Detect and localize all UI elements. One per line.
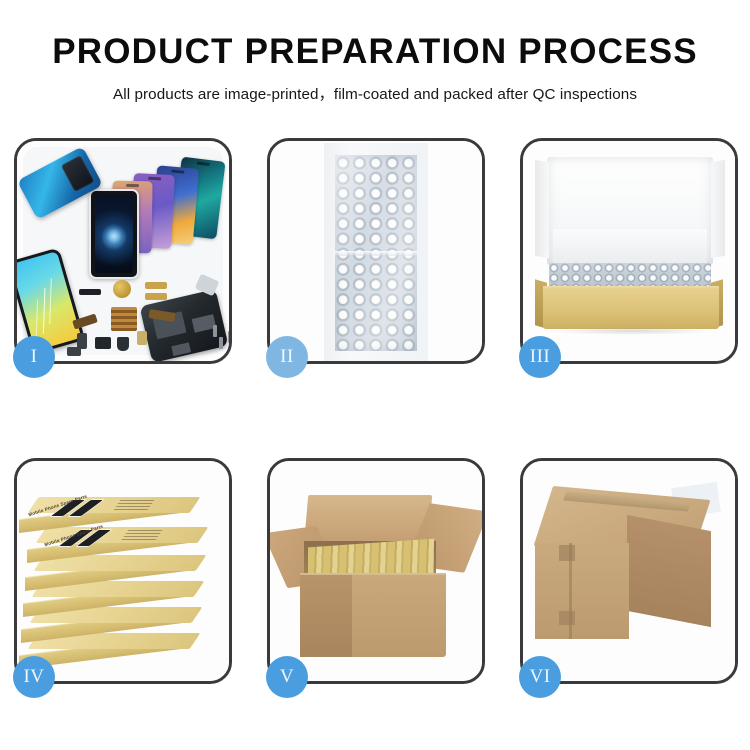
process-step-panel-4: Mobile Phone Spare Parts Mobile Phon (14, 458, 232, 684)
step-5-illustration (270, 461, 482, 681)
carton-flap-tab (559, 545, 575, 561)
step-badge-1: I (13, 336, 55, 378)
process-step-panel-2: II (267, 138, 485, 364)
spare-part-icon (137, 331, 147, 345)
retail-box-labelled: Mobile Phone Spare Parts (19, 497, 195, 523)
step-badge-2: II (266, 336, 308, 378)
step-6-illustration (523, 461, 735, 681)
header: PRODUCT PREPARATION PROCESS All products… (0, 0, 750, 104)
kraft-box-front (543, 289, 719, 329)
step-badge-5: V (266, 656, 308, 698)
spare-part-icon (117, 337, 129, 351)
step-3-illustration (523, 141, 735, 361)
page-title: PRODUCT PREPARATION PROCESS (0, 34, 750, 69)
step-1-illustration (17, 141, 229, 361)
spare-part-icon (67, 347, 81, 356)
step-badge-3: III (519, 336, 561, 378)
carton-flap-tab (559, 611, 575, 625)
spare-part-icon (145, 282, 167, 289)
step-4-illustration: Mobile Phone Spare Parts Mobile Phon (17, 461, 229, 681)
step-badge-6: VI (519, 656, 561, 698)
bubble-wrap-pouch-icon (324, 143, 428, 361)
page-subtitle: All products are image-printed，film-coat… (0, 82, 750, 104)
retail-box-labelled: Mobile Phone Spare Parts (27, 527, 203, 553)
process-step-panel-6: VI (520, 458, 738, 684)
screw-icon (219, 337, 223, 349)
screen-glass-icon (89, 189, 139, 279)
carton-side-face (627, 515, 711, 627)
process-step-panel-3: III (520, 138, 738, 364)
retail-box-stack-icon: Mobile Phone Spare Parts Mobile Phon (19, 483, 227, 679)
process-step-grid: I II (14, 138, 736, 684)
carton-front-face (300, 575, 352, 657)
spare-part-icon (113, 280, 131, 298)
spare-part-icon (111, 307, 137, 331)
carton-front-face (535, 543, 629, 639)
drop-shadow (549, 327, 715, 335)
step-2-illustration (270, 141, 482, 361)
spare-part-icon (145, 293, 167, 300)
process-step-panel-1: I (14, 138, 232, 364)
infographic-page: PRODUCT PREPARATION PROCESS All products… (0, 0, 750, 750)
step-badge-4: IV (13, 656, 55, 698)
spare-part-icon (79, 289, 101, 295)
process-step-panel-5: V (267, 458, 485, 684)
spare-part-icon (95, 337, 111, 349)
